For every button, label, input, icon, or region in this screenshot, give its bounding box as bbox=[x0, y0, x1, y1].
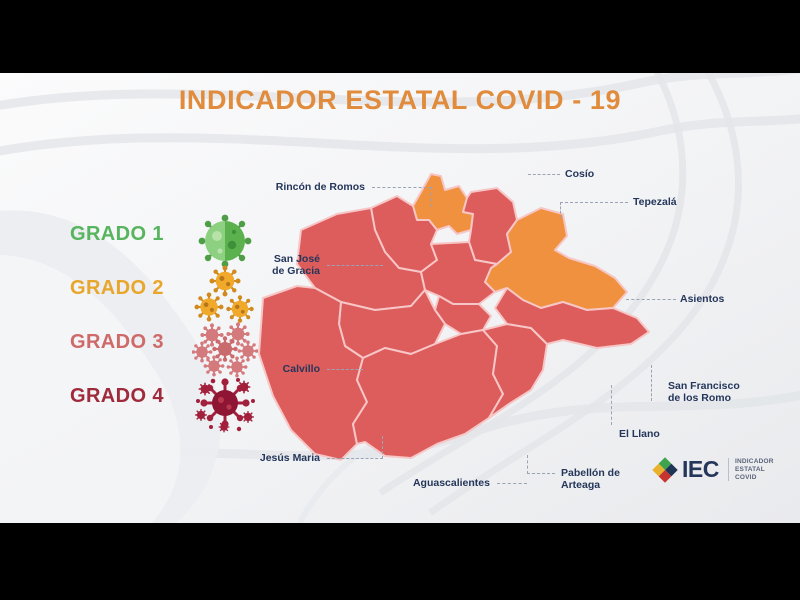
legend-item-grado-4: GRADO 4 bbox=[62, 377, 272, 431]
leader-pabellon-v bbox=[527, 455, 528, 474]
legend-label-grado-3: GRADO 3 bbox=[70, 331, 164, 354]
logo-wordmark: IEC bbox=[682, 456, 719, 483]
map-label-pabellon-de-arteaga: Pabellón de Arteaga bbox=[561, 467, 651, 491]
logo-subtitle: INDICADOR ESTATAL COVID bbox=[735, 458, 774, 482]
leader-jesus-maria-v bbox=[382, 436, 383, 459]
legend-label-grado-4: GRADO 4 bbox=[70, 385, 164, 408]
leader-san-francisco-v bbox=[651, 365, 652, 401]
map-label-el-llano: El Llano bbox=[619, 428, 689, 440]
legend-label-grado-1: GRADO 1 bbox=[70, 223, 164, 246]
leader-cosio bbox=[528, 174, 560, 175]
leader-rincon-de-romos-v bbox=[431, 187, 432, 207]
map-label-jesus-maria: Jesús Maria bbox=[235, 452, 320, 464]
leader-tepezala-v bbox=[560, 202, 561, 218]
leader-jesus-maria bbox=[327, 458, 383, 459]
iec-diamond-icon bbox=[652, 457, 678, 483]
leader-pabellon bbox=[527, 473, 555, 474]
legend-item-grado-3: GRADO 3 bbox=[62, 323, 272, 377]
map-label-tepezala: Tepezalá bbox=[633, 196, 713, 208]
map-label-aguascalientes: Aguascalientes bbox=[390, 477, 490, 489]
leader-aguascalientes bbox=[497, 483, 527, 484]
leader-rincon-de-romos bbox=[372, 187, 432, 188]
iec-logo: IEC INDICADOR ESTATAL COVID bbox=[652, 451, 792, 491]
leader-asientos bbox=[626, 299, 676, 300]
leader-calvillo bbox=[327, 369, 363, 370]
leader-tepezala bbox=[560, 202, 628, 203]
legend: GRADO 1 bbox=[62, 215, 272, 431]
legend-label-grado-2: GRADO 2 bbox=[70, 277, 164, 300]
map-label-san-jose-de-gracia: San José de Gracia bbox=[238, 253, 320, 277]
leader-el-llano-v bbox=[611, 385, 612, 425]
legend-item-grado-2: GRADO 2 bbox=[62, 269, 272, 323]
map-label-san-francisco-de-los-romo: San Francisco de los Romo bbox=[668, 380, 778, 404]
screenshot-root: INDICADOR ESTATAL COVID - 19 GRADO 1 bbox=[0, 0, 800, 600]
leader-san-jose-de-gracia bbox=[327, 265, 383, 266]
letterbox-bottom bbox=[0, 523, 800, 600]
page-title: INDICADOR ESTATAL COVID - 19 bbox=[0, 85, 800, 116]
map-label-rincon-de-romos: Rincón de Romos bbox=[260, 181, 365, 193]
logo-divider bbox=[728, 458, 729, 481]
map-label-asientos: Asientos bbox=[680, 293, 760, 305]
map-label-calvillo: Calvillo bbox=[255, 363, 320, 375]
slide-content: INDICADOR ESTATAL COVID - 19 GRADO 1 bbox=[0, 73, 800, 523]
map-label-cosio: Cosío bbox=[565, 168, 645, 180]
letterbox-top bbox=[0, 0, 800, 73]
